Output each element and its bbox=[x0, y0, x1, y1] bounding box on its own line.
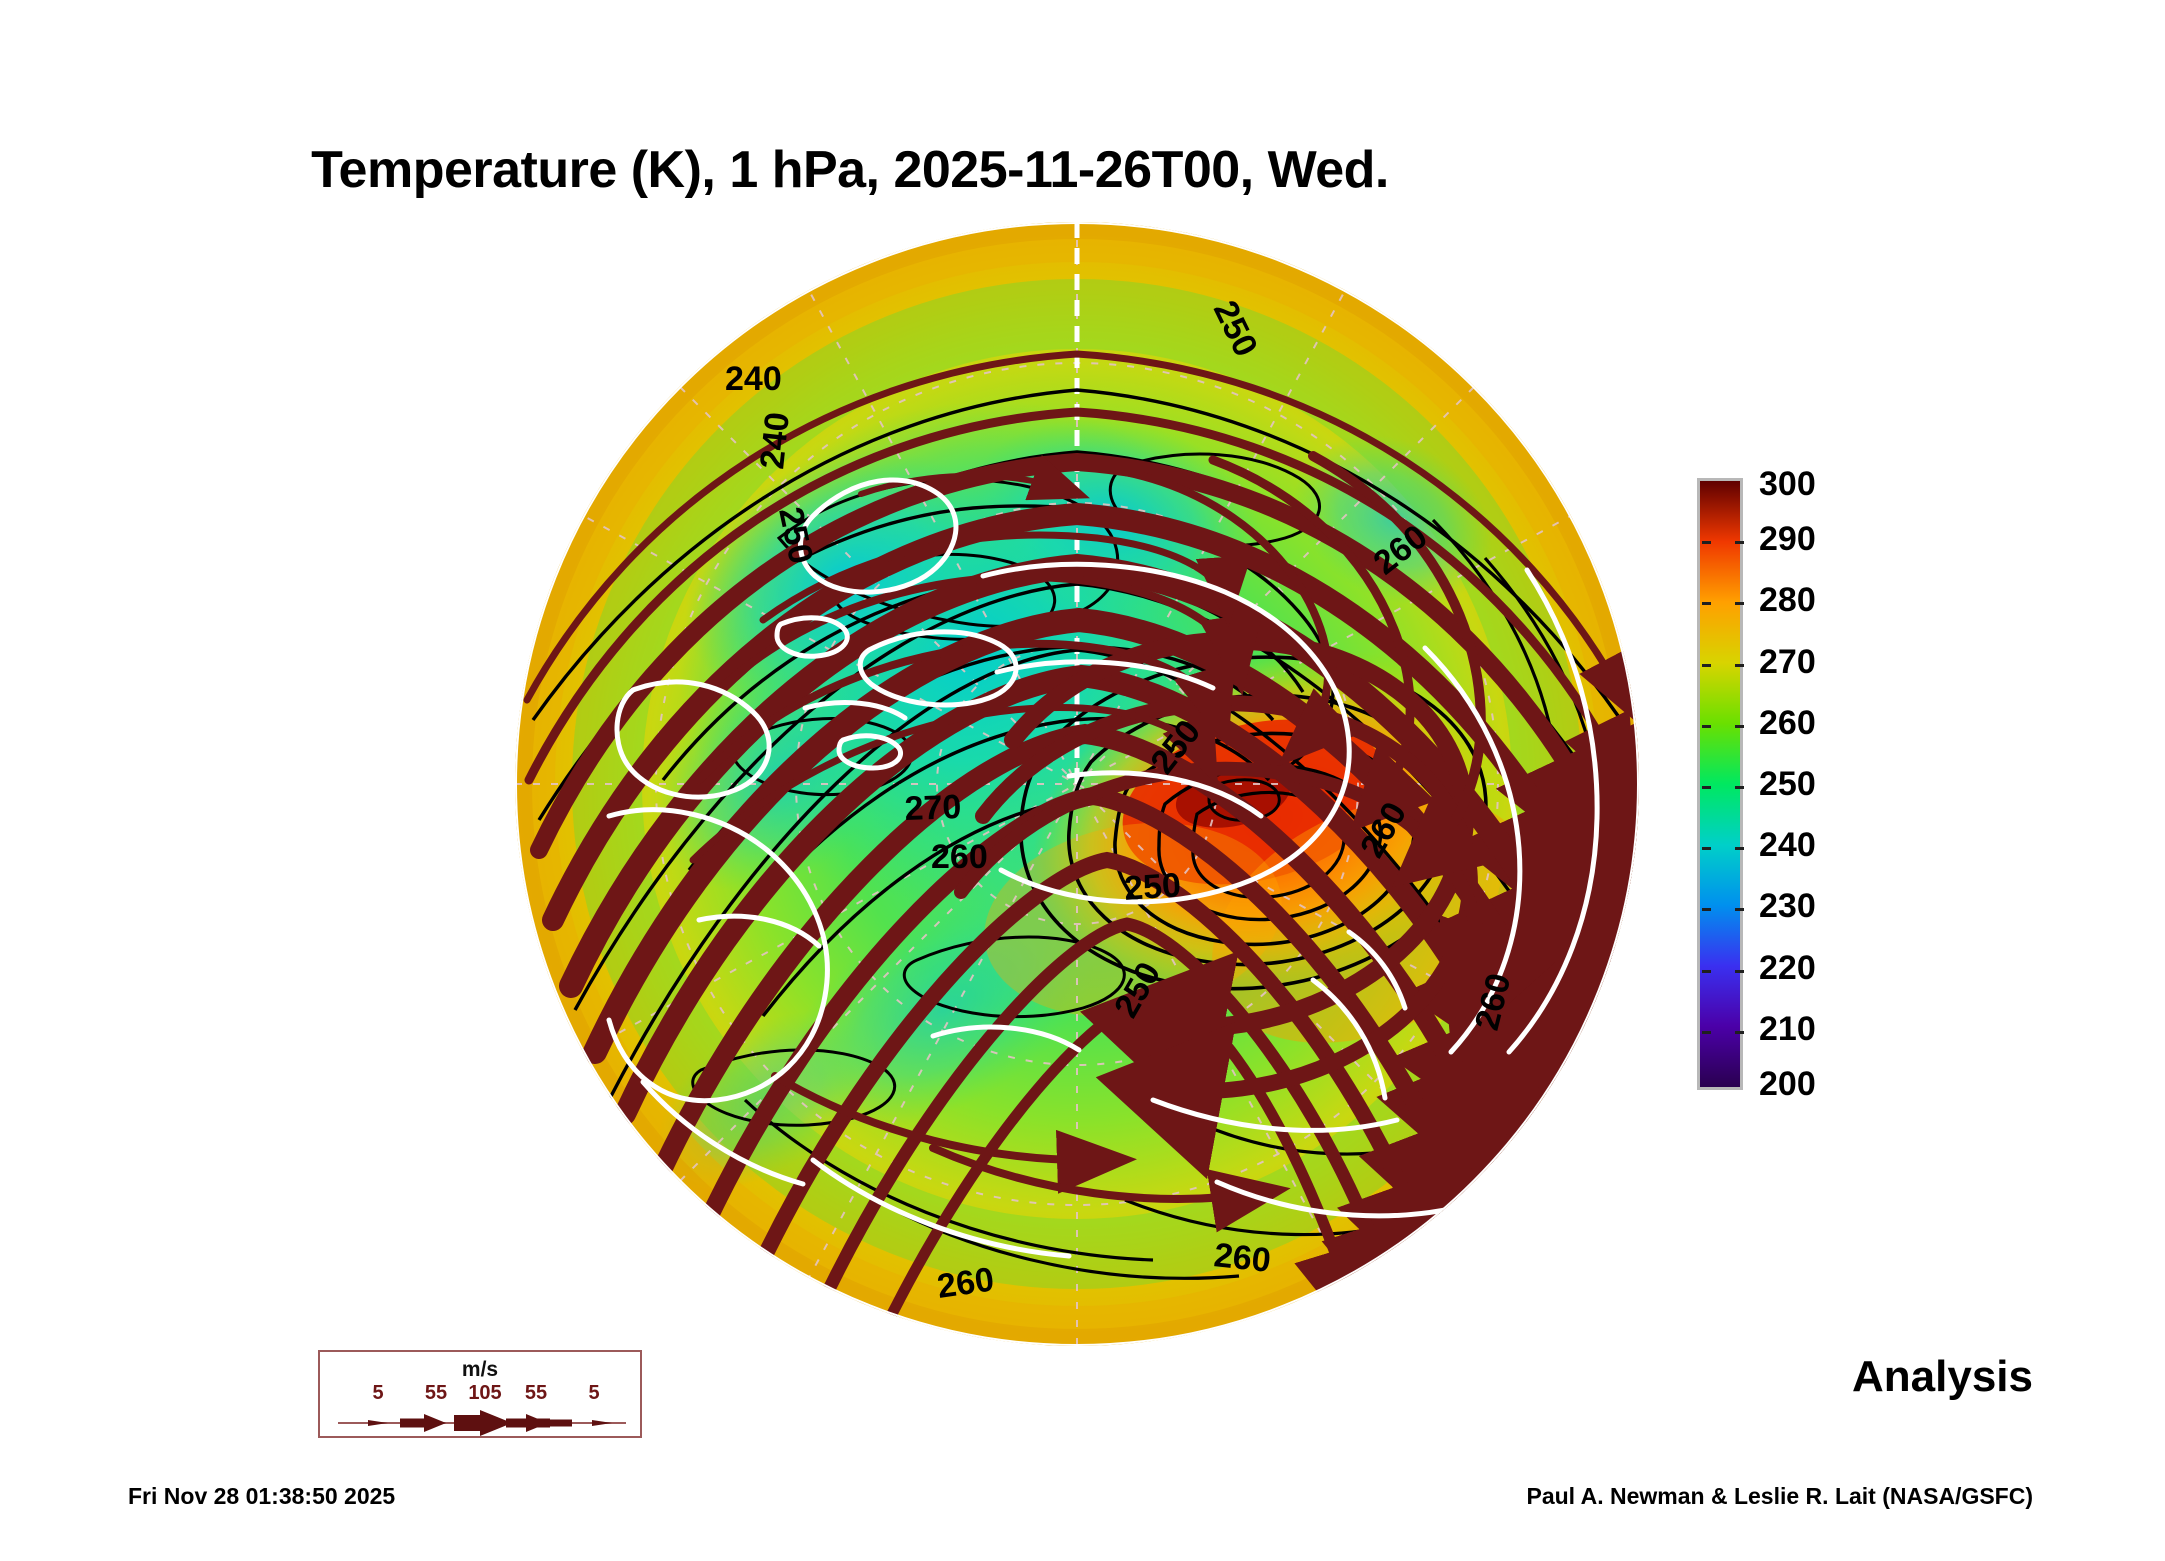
colorbar-tick-label: 290 bbox=[1759, 522, 1816, 556]
svg-text:260: 260 bbox=[931, 838, 988, 876]
colorbar-tick-mark bbox=[1735, 602, 1744, 605]
colorbar: 300290280270260250240230220210200 bbox=[1697, 478, 1997, 1098]
colorbar-tick-mark bbox=[1735, 847, 1744, 850]
svg-text:270: 270 bbox=[904, 788, 962, 828]
colorbar-tick-label: 280 bbox=[1759, 583, 1816, 617]
wind-scale-value: 5 bbox=[372, 1382, 383, 1405]
colorbar-tick-mark bbox=[1735, 786, 1744, 789]
map-svg: 260 260 260 250 260 250 260 260 240 250 … bbox=[513, 220, 1641, 1348]
colorbar-tick-mark bbox=[1702, 847, 1711, 850]
colorbar-tick-label: 210 bbox=[1759, 1012, 1816, 1046]
wind-scale-value: 5 bbox=[588, 1382, 599, 1405]
colorbar-tick-label: 260 bbox=[1759, 706, 1816, 740]
colorbar-tick-mark bbox=[1702, 908, 1711, 911]
colorbar-tick-mark bbox=[1702, 664, 1711, 667]
svg-text:250: 250 bbox=[1123, 866, 1182, 908]
wind-scale-value: 55 bbox=[525, 1382, 547, 1405]
colorbar-tick-mark bbox=[1702, 541, 1711, 544]
svg-text:260: 260 bbox=[1212, 1236, 1272, 1280]
generation-timestamp: Fri Nov 28 01:38:50 2025 bbox=[128, 1483, 395, 1510]
svg-text:260: 260 bbox=[935, 1260, 996, 1306]
svg-text:240: 240 bbox=[725, 360, 782, 398]
colorbar-tick-mark bbox=[1702, 725, 1711, 728]
colorbar-labels: 300290280270260250240230220210200 bbox=[1759, 478, 1959, 1090]
wind-units-label: m/s bbox=[320, 1358, 640, 1382]
page-title: Temperature (K), 1 hPa, 2025-11-26T00, W… bbox=[0, 140, 1700, 200]
colorbar-tick-mark bbox=[1702, 786, 1711, 789]
colorbar-gradient bbox=[1697, 478, 1743, 1090]
wind-speed-legend: m/s 555105555 bbox=[318, 1350, 642, 1438]
author-credit: Paul A. Newman & Leslie R. Lait (NASA/GS… bbox=[1526, 1483, 2033, 1510]
colorbar-tick-mark bbox=[1735, 908, 1744, 911]
wind-scale-arrows bbox=[320, 1408, 640, 1438]
colorbar-tick-mark bbox=[1735, 970, 1744, 973]
svg-text:240: 240 bbox=[753, 410, 797, 470]
colorbar-tick-mark bbox=[1702, 602, 1711, 605]
wind-scale-values: 555105555 bbox=[320, 1382, 640, 1408]
colorbar-tick-mark bbox=[1735, 1031, 1744, 1034]
svg-text:250: 250 bbox=[750, 223, 817, 279]
colorbar-tick-label: 240 bbox=[1759, 828, 1816, 862]
colorbar-tick-mark bbox=[1735, 541, 1744, 544]
colorbar-tick-label: 200 bbox=[1759, 1067, 1816, 1101]
colorbar-tick-label: 250 bbox=[1759, 767, 1816, 801]
polar-map-plot: 260 260 260 250 260 250 260 260 240 250 … bbox=[513, 220, 1641, 1348]
colorbar-tick-mark bbox=[1702, 1031, 1711, 1034]
analysis-label: Analysis bbox=[1852, 1352, 2033, 1402]
svg-text:260: 260 bbox=[661, 220, 729, 282]
wind-scale-value: 105 bbox=[468, 1382, 501, 1405]
map-disk: 260 260 260 250 260 250 260 260 240 250 … bbox=[513, 220, 1639, 1346]
colorbar-tick-mark bbox=[1735, 664, 1744, 667]
colorbar-tick-label: 230 bbox=[1759, 889, 1816, 923]
colorbar-tick-label: 300 bbox=[1759, 467, 1816, 501]
colorbar-tick-label: 220 bbox=[1759, 951, 1816, 985]
chart-canvas: Temperature (K), 1 hPa, 2025-11-26T00, W… bbox=[0, 0, 2165, 1561]
colorbar-tick-mark bbox=[1702, 970, 1711, 973]
wind-scale-value: 55 bbox=[425, 1382, 447, 1405]
colorbar-tick-label: 270 bbox=[1759, 645, 1816, 679]
colorbar-ticks bbox=[1700, 481, 1746, 1093]
colorbar-tick-mark bbox=[1735, 725, 1744, 728]
